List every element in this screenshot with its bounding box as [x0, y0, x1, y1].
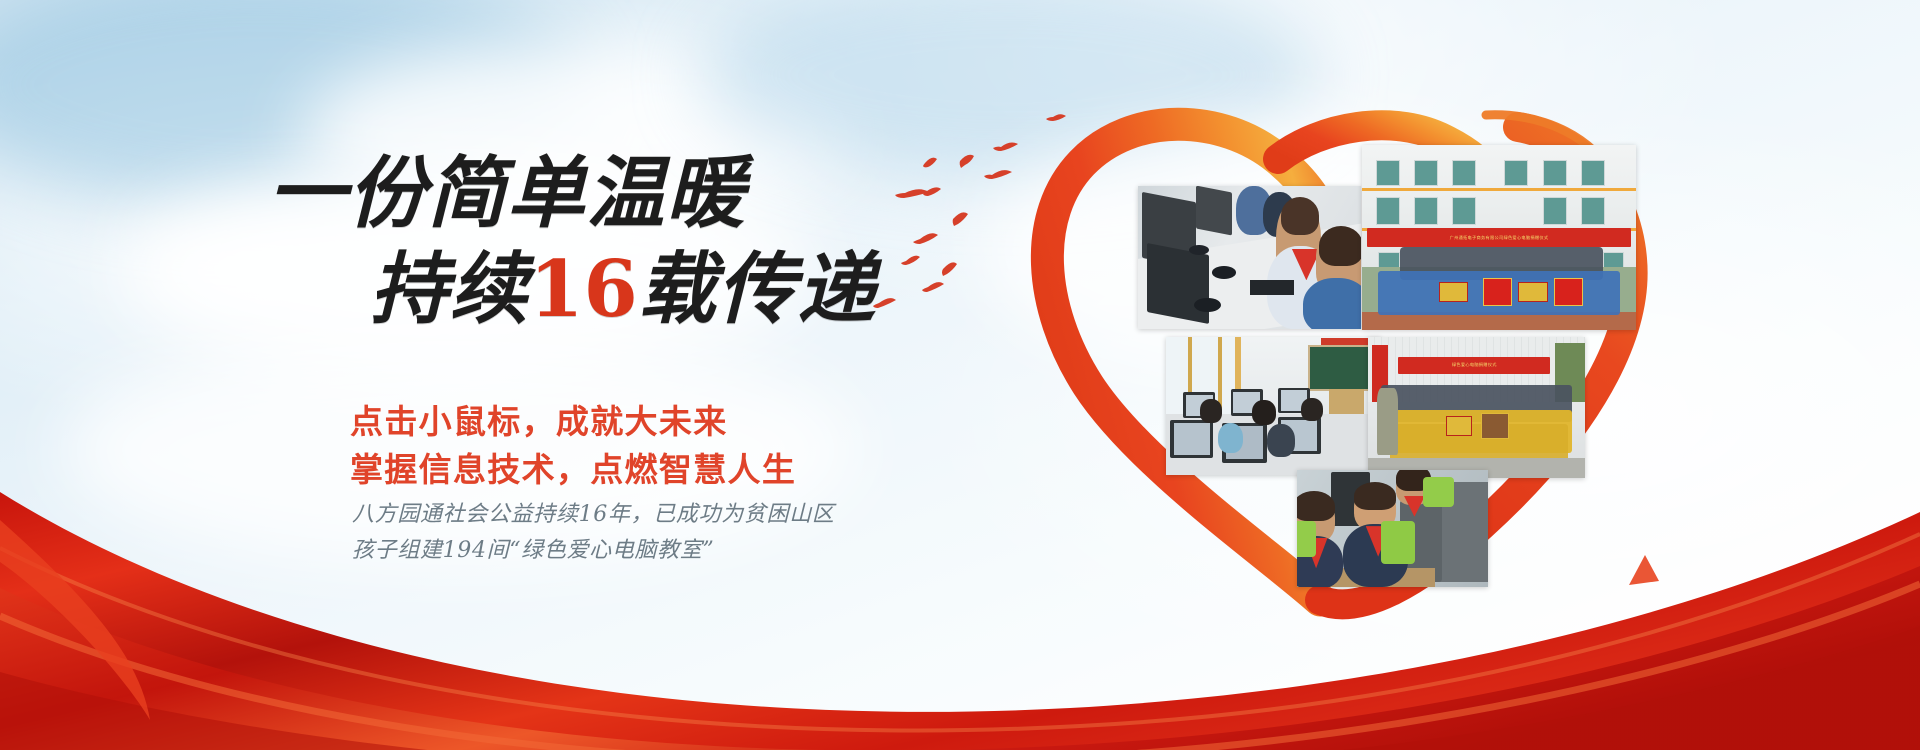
photo-school-ceremony[interactable]: 广州通拓电子商务有限公司绿色爱心电脑捐赠仪式 — [1362, 145, 1636, 330]
photo-computer-lab[interactable] — [1166, 337, 1381, 475]
banner-subtitle: 点击小鼠标，成就大未来 掌握信息技术，点燃智慧人生 — [350, 398, 796, 494]
photo-classroom-mice[interactable] — [1138, 186, 1361, 329]
photo-boys-computers[interactable] — [1297, 470, 1488, 587]
photo-group-award[interactable]: 绿色爱心电脑捐赠仪式 — [1368, 337, 1585, 478]
award-banner-text: 绿色爱心电脑捐赠仪式 — [1398, 357, 1550, 374]
charity-banner: 一份简单温暖 持续16载传递 点击小鼠标，成就大未来 掌握信息技术，点燃智慧人生… — [0, 0, 1920, 750]
headline-years-number: 16 — [529, 244, 638, 335]
body-line-2: 孩子组建194间“绿色爱心电脑教室” — [352, 533, 835, 569]
headline-line-2-suffix: 载传递 — [638, 244, 877, 335]
body-line-1: 八方园通社会公益持续16年，已成功为贫困山区 — [352, 497, 835, 533]
ceremony-banner-text: 广州通拓电子商务有限公司绿色爱心电脑捐赠仪式 — [1367, 228, 1630, 247]
headline-line-1: 一份简单温暖 — [250, 155, 950, 233]
headline-line-2-prefix: 持续 — [370, 244, 529, 335]
banner-body-text: 八方园通社会公益持续16年，已成功为贫困山区 孩子组建194间“绿色爱心电脑教室… — [352, 497, 835, 568]
subtitle-line-1: 点击小鼠标，成就大未来 — [350, 398, 796, 446]
subtitle-line-2: 掌握信息技术，点燃智慧人生 — [350, 446, 796, 494]
headline-line-2: 持续16载传递 — [250, 251, 950, 329]
banner-headline: 一份简单温暖 持续16载传递 — [250, 155, 950, 329]
